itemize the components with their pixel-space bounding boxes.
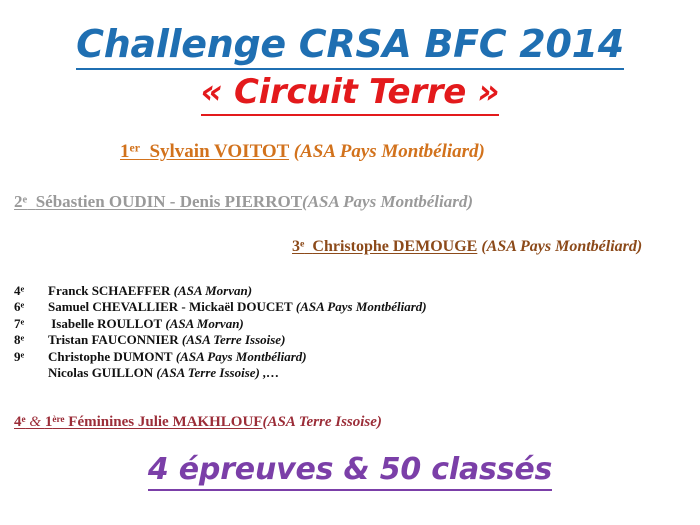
podium-third-rank-name: 3e Christophe DEMOUGE — [292, 238, 477, 255]
podium-second-rank: 2 — [14, 192, 23, 211]
footer-summary: 4 épreuves & 50 classés — [0, 452, 700, 487]
result-rank: 7e — [14, 316, 48, 332]
list-item: 4eFranck SCHAEFFER (ASA Morvan) — [14, 283, 427, 299]
result-name: Franck SCHAEFFER — [48, 283, 170, 298]
result-rank-suffix: e — [21, 300, 25, 310]
result-rank-suffix: e — [21, 349, 25, 359]
slide-canvas: Challenge CRSA BFC 2014 « Circuit Terre … — [0, 0, 700, 525]
feminine-club: (ASA Terre Issoise) — [262, 414, 381, 430]
feminine-rank-a: 4 — [14, 414, 22, 430]
result-club: (ASA Morvan) — [174, 283, 252, 298]
sub-title: « Circuit Terre » — [0, 72, 700, 112]
podium-first-rank-suffix: er — [130, 142, 140, 155]
podium-third-rank: 3 — [292, 238, 300, 255]
main-title: Challenge CRSA BFC 2014 — [0, 22, 700, 66]
footer-summary-text: 4 épreuves & 50 classés — [148, 452, 552, 491]
podium-first-rank: 1 — [120, 141, 130, 162]
podium-third-rank-suffix: e — [300, 239, 304, 250]
result-club: (ASA Terre Issoise) ,… — [156, 365, 279, 380]
sub-title-text: « Circuit Terre » — [201, 72, 500, 116]
podium-first-club: (ASA Pays Montbéliard) — [294, 141, 485, 162]
result-rank-suffix: e — [21, 316, 25, 326]
result-name: Nicolas GUILLON — [48, 365, 153, 380]
podium-second-place: 2e Sébastien OUDIN - Denis PIERROT(ASA P… — [14, 192, 473, 212]
list-item: 6eSamuel CHEVALLIER - Mickaël DOUCET (AS… — [14, 299, 427, 315]
podium-second-rank-suffix: e — [23, 194, 28, 205]
result-club: (ASA Terre Issoise) — [182, 332, 286, 347]
list-item: 8eTristan FAUCONNIER (ASA Terre Issoise) — [14, 332, 427, 348]
podium-second-rank-name: 2e Sébastien OUDIN - Denis PIERROT — [14, 192, 302, 211]
feminine-classification: 4e & 1ère Féminines Julie MAKHLOUF(ASA T… — [14, 414, 382, 431]
podium-third-name: Christophe DEMOUGE — [312, 238, 477, 255]
result-rank: 8e — [14, 332, 48, 348]
result-name: Isabelle ROULLOT — [48, 316, 162, 331]
result-name: Samuel CHEVALLIER - Mickaël DOUCET — [48, 299, 293, 314]
list-item: 7e Isabelle ROULLOT (ASA Morvan) — [14, 316, 427, 332]
podium-third-place: 3e Christophe DEMOUGE (ASA Pays Montbéli… — [292, 238, 642, 256]
results-list: 4eFranck SCHAEFFER (ASA Morvan) 6eSamuel… — [14, 283, 427, 381]
main-title-text: Challenge CRSA BFC 2014 — [76, 22, 624, 70]
result-name: Tristan FAUCONNIER — [48, 332, 179, 347]
result-name: Christophe DUMONT — [48, 349, 173, 364]
result-club: (ASA Morvan) — [165, 316, 243, 331]
podium-third-club: (ASA Pays Montbéliard) — [481, 238, 642, 255]
result-rank-suffix: e — [21, 333, 25, 343]
podium-first-place: 1er Sylvain VOITOT (ASA Pays Montbéliard… — [120, 141, 485, 163]
list-item: 9eChristophe DUMONT (ASA Pays Montbéliar… — [14, 349, 427, 365]
podium-second-name: Sébastien OUDIN - Denis PIERROT — [36, 192, 302, 211]
list-item: Nicolas GUILLON (ASA Terre Issoise) ,… — [14, 365, 427, 381]
result-club: (ASA Pays Montbéliard) — [176, 349, 307, 364]
feminine-rank-b-suffix: ère — [52, 415, 64, 425]
result-rank: 4e — [14, 283, 48, 299]
podium-first-rank-name: 1er Sylvain VOITOT — [120, 141, 289, 162]
result-club: (ASA Pays Montbéliard) — [296, 299, 427, 314]
result-rank: 6e — [14, 299, 48, 315]
podium-second-club: (ASA Pays Montbéliard) — [302, 192, 473, 211]
feminine-label: Féminines Julie MAKHLOUF — [65, 414, 263, 430]
result-rank-suffix: e — [21, 283, 25, 293]
feminine-amp: & — [26, 414, 45, 430]
feminine-rank-name: 4e & 1ère Féminines Julie MAKHLOUF — [14, 414, 262, 430]
result-rank: 9e — [14, 349, 48, 365]
podium-first-name: Sylvain VOITOT — [149, 141, 289, 162]
